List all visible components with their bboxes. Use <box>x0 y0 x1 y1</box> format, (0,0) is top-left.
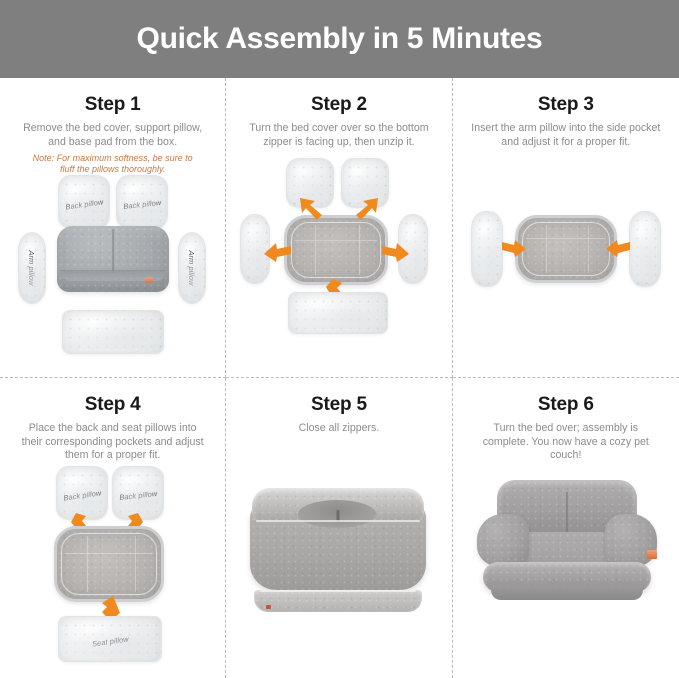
step-panel-3: Step 3 Insert the arm pillow into the si… <box>453 78 679 378</box>
arrow-up-left-icon <box>298 196 324 222</box>
couch-arm-left <box>477 514 529 566</box>
cover-seam <box>87 536 88 592</box>
fabric-texture <box>472 212 502 286</box>
arrow-left-insert-icon <box>605 238 631 258</box>
fabric-texture <box>630 212 660 286</box>
arm-pillow-left <box>471 211 503 287</box>
back-pillow-right: Back pillow <box>116 175 168 229</box>
cover-seam <box>135 536 136 592</box>
step-panel-4: Step 4 Place the back and seat pillows i… <box>0 378 226 678</box>
assembled-bed-inverted <box>250 488 426 612</box>
couch-base <box>491 586 643 600</box>
step-panel-6: Step 6 Turn the bed over; assembly is co… <box>453 378 679 678</box>
arrow-right-insert-icon <box>501 238 527 258</box>
bed-cover-open <box>284 215 388 285</box>
cover-rim <box>522 222 610 276</box>
cover-seam <box>315 225 316 275</box>
arrow-left-icon <box>262 241 292 263</box>
fabric-texture <box>477 514 529 566</box>
cover-seam <box>526 238 606 239</box>
arm-pillow-right: Arm pillow <box>178 232 206 304</box>
cover-fold-seam <box>112 229 114 273</box>
base-pad <box>288 292 388 334</box>
cover-rim <box>291 222 381 278</box>
zipper-line-bottom <box>260 590 416 592</box>
seat-pillow: Seat pillow <box>58 616 162 662</box>
fabric-texture <box>254 590 422 612</box>
arm-pillow-left: Arm pillow <box>18 232 46 304</box>
cover-seam <box>359 225 360 275</box>
finished-pet-couch <box>475 470 659 604</box>
step-1-illustration: Back pillow Back pillow Arm pillow Arm p… <box>0 78 225 377</box>
step-3-illustration <box>453 78 679 377</box>
brand-tag-icon <box>145 277 153 283</box>
step-panel-5: Step 5 Close all zippers. <box>226 378 452 678</box>
step-panel-2: Step 2 Turn the bed cover over so the bo… <box>226 78 452 378</box>
brand-tag-icon <box>266 605 271 609</box>
page-title: Quick Assembly in 5 Minutes <box>137 22 543 56</box>
base-pad <box>62 310 164 354</box>
step-6-illustration <box>453 378 679 678</box>
bed-cover-open <box>515 215 617 283</box>
arrow-right-icon <box>381 241 411 263</box>
assembly-instructions-page: Quick Assembly in 5 Minutes Step 1 Remov… <box>0 0 679 678</box>
step-5-illustration <box>226 378 451 678</box>
seat-pillow-label: Seat pillow <box>57 612 164 670</box>
bed-cover-folded <box>57 226 169 292</box>
cover-seam <box>295 240 377 241</box>
bed-base-panel <box>254 590 422 612</box>
bed-cover-open <box>54 526 164 602</box>
fabric-texture <box>289 293 387 333</box>
fabric-texture <box>63 311 163 353</box>
cover-seam <box>65 553 153 554</box>
header-banner: Quick Assembly in 5 Minutes <box>0 0 679 78</box>
zipper-line-top <box>256 520 420 522</box>
brand-tag-icon <box>647 550 657 559</box>
arrow-up-right-icon <box>354 196 380 222</box>
step-4-illustration: Back pillow Back pillow <box>0 378 225 678</box>
step-2-illustration <box>226 78 451 377</box>
cover-seam <box>588 225 589 273</box>
back-pillow-left-label: Back pillow <box>56 175 113 233</box>
back-pillow-right-label: Back pillow <box>115 176 170 233</box>
back-pillow-left: Back pillow <box>58 175 110 229</box>
cover-rim <box>61 533 157 595</box>
cover-seam <box>546 225 547 273</box>
step-panel-1: Step 1 Remove the bed cover, support pil… <box>0 78 226 378</box>
arm-pillow-right <box>629 211 661 287</box>
steps-grid: Step 1 Remove the bed cover, support pil… <box>0 78 679 678</box>
